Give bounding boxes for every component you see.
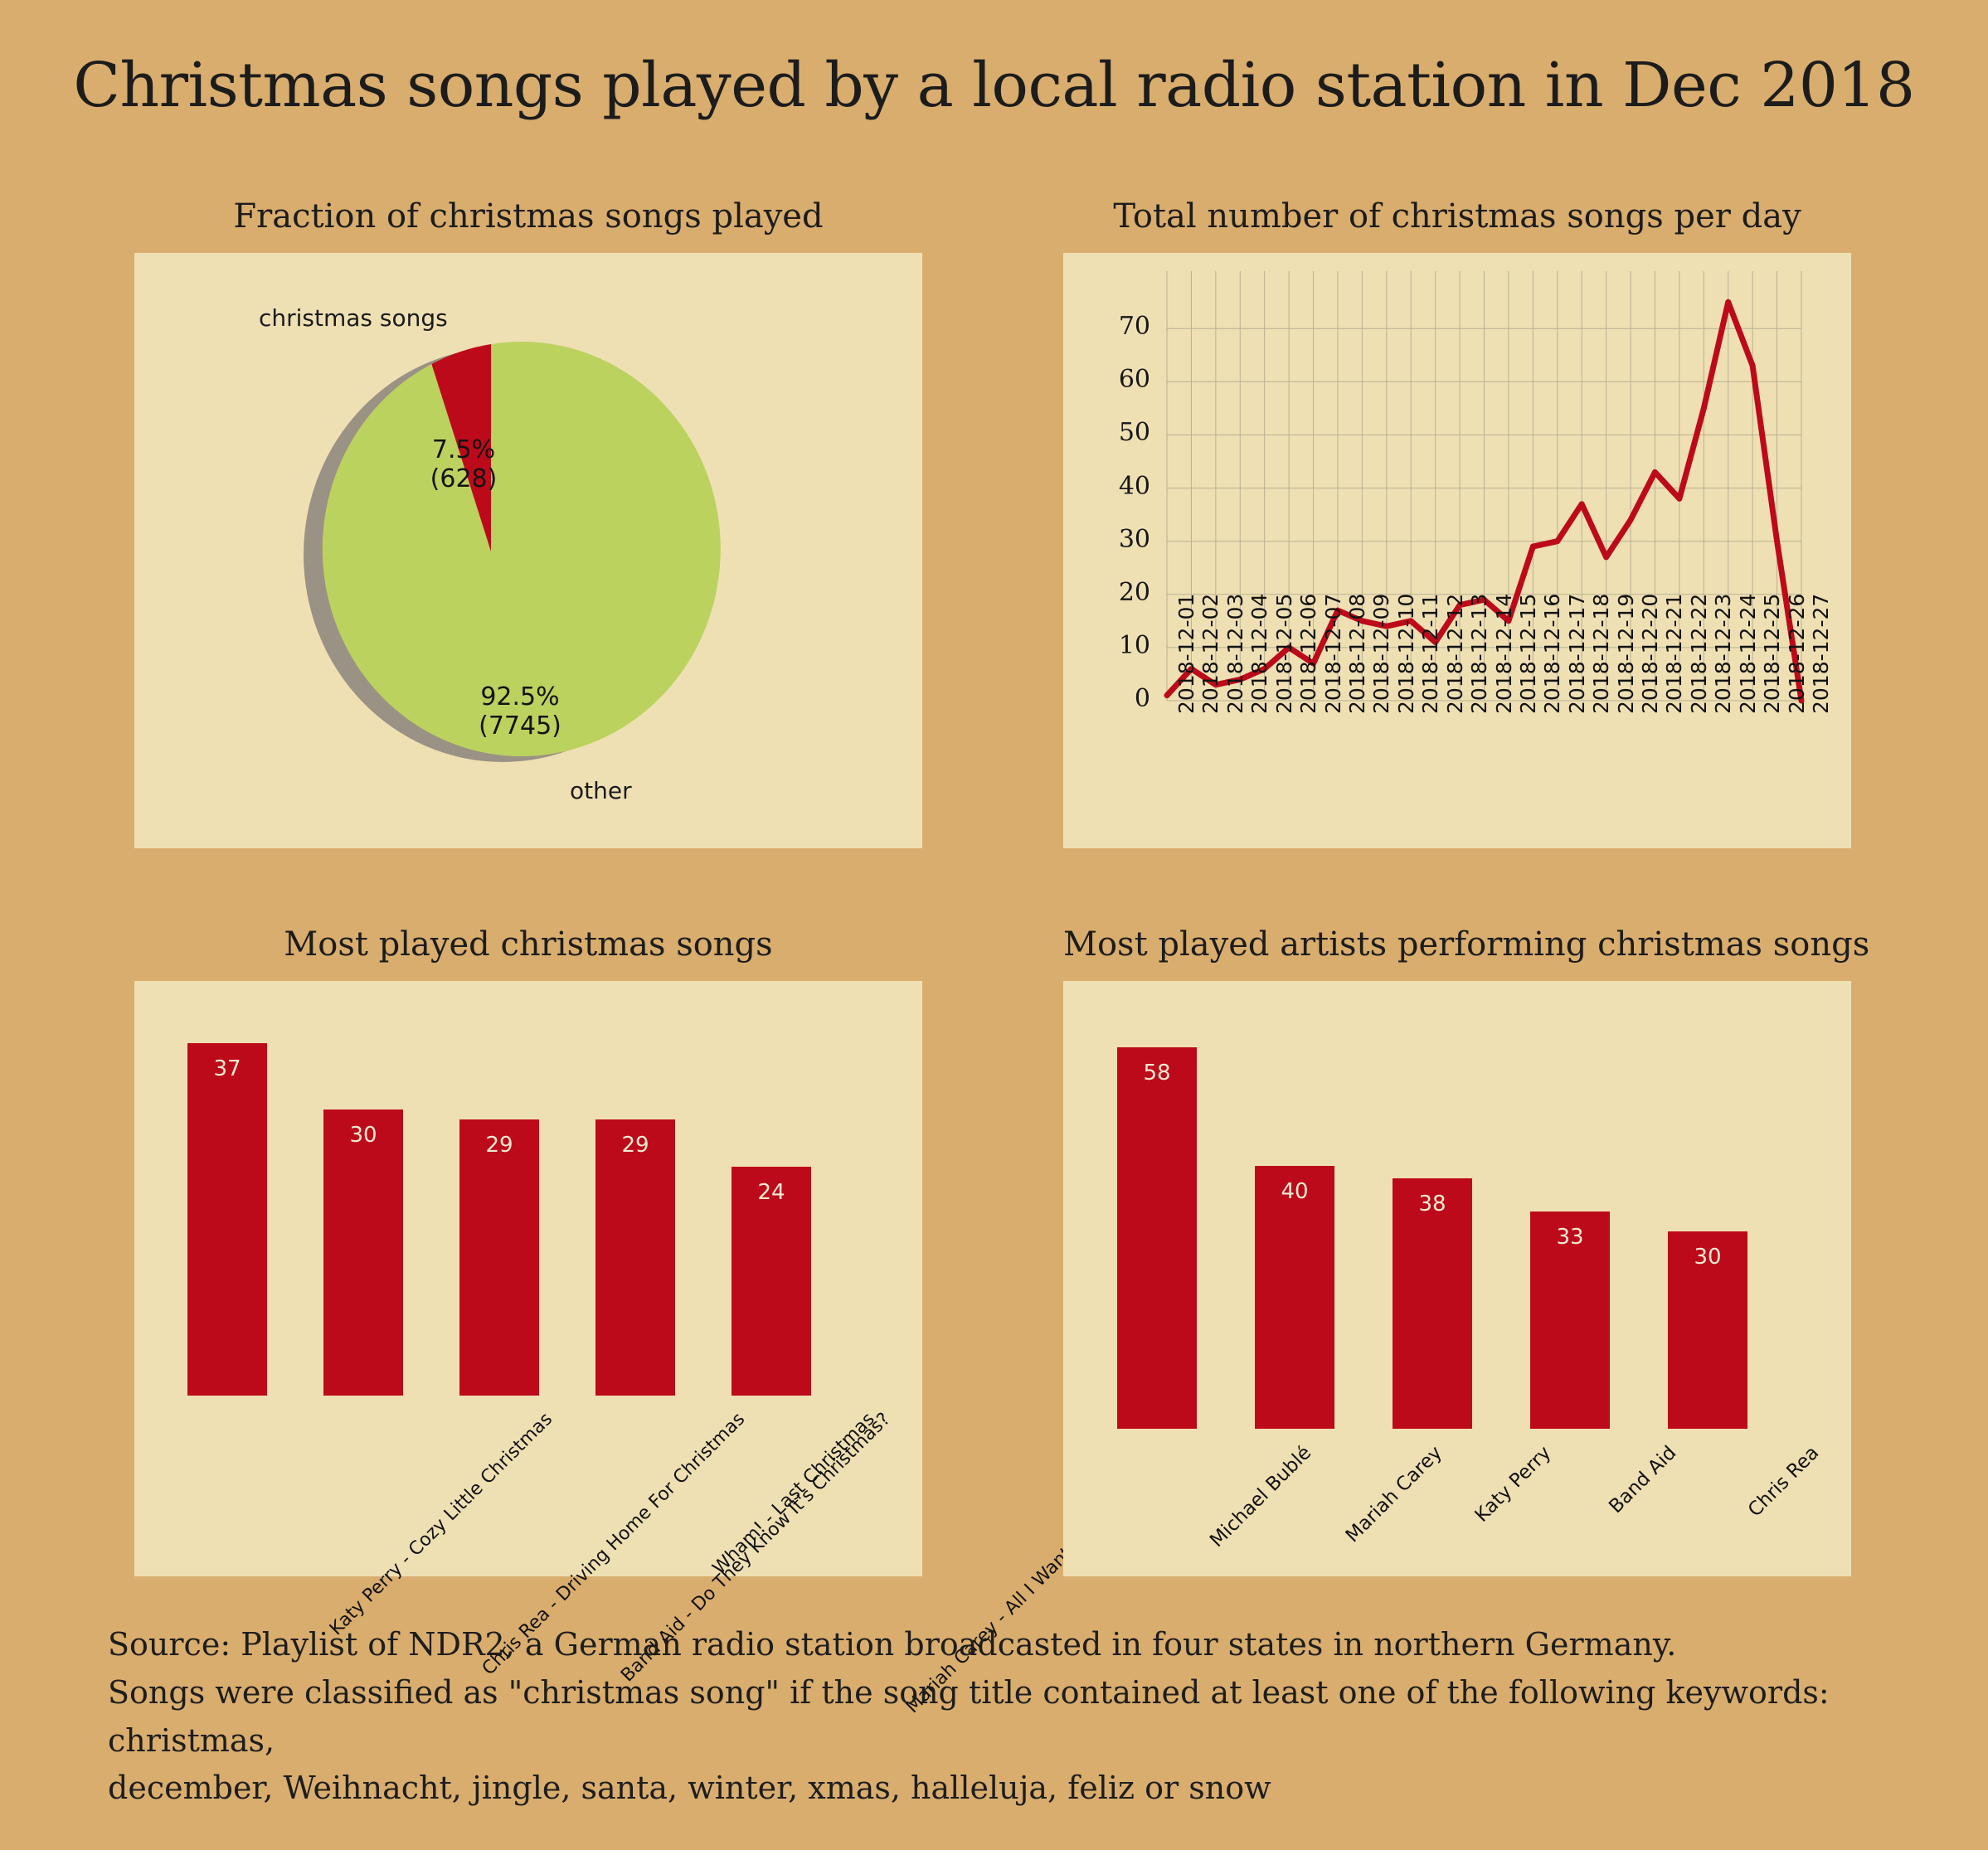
- x-tick-label: 2018-12-04: [1247, 594, 1271, 714]
- bar-value-label: 30: [323, 1123, 402, 1148]
- bar-value-label: 40: [1255, 1179, 1334, 1204]
- bar-value-label: 37: [187, 1056, 266, 1081]
- y-tick-label: 70: [1092, 312, 1150, 341]
- pie-value-other-pct: 92.5%: [454, 682, 586, 711]
- source-note: Source: Playlist of NDR2, a German radio…: [108, 1621, 1932, 1813]
- bar-value-label: 38: [1393, 1192, 1472, 1216]
- pie-chart: christmas songs 7.5% (628) 92.5% (7745) …: [292, 336, 773, 800]
- category-label: Mariah Carey: [1341, 1442, 1446, 1547]
- x-tick-label: 2018-12-17: [1565, 594, 1589, 714]
- bar-value-label: 30: [1668, 1245, 1747, 1270]
- source-note-line-2: Songs were classified as "christmas song…: [108, 1669, 1932, 1765]
- x-tick-label: 2018-12-22: [1687, 594, 1711, 714]
- x-tick-label: 2018-12-21: [1662, 594, 1686, 714]
- y-tick-label: 10: [1092, 631, 1150, 660]
- bar[interactable]: [595, 1119, 674, 1396]
- line-chart-panel: 010203040506070 2018-12-012018-12-022018…: [1063, 253, 1851, 848]
- x-tick-label: 2018-12-24: [1736, 594, 1760, 714]
- x-tick-label: 2018-12-10: [1394, 594, 1418, 714]
- pie-value-other-count: (7745): [454, 711, 586, 740]
- bar[interactable]: [1117, 1047, 1197, 1429]
- x-tick-label: 2018-12-13: [1467, 594, 1491, 714]
- x-tick-label: 2018-12-06: [1296, 594, 1320, 714]
- page-title: Christmas songs played by a local radio …: [0, 50, 1988, 121]
- x-tick-label: 2018-12-26: [1785, 594, 1809, 714]
- pie-chart-panel: christmas songs 7.5% (628) 92.5% (7745) …: [134, 253, 922, 848]
- pie-value-christmas-pct: 7.5%: [410, 435, 518, 464]
- line-chart-svg: [1063, 253, 1851, 848]
- x-tick-label: 2018-12-11: [1418, 594, 1442, 714]
- pie-value-other: 92.5% (7745): [454, 682, 586, 741]
- category-label: Band Aid: [1605, 1442, 1680, 1517]
- bar-value-label: 29: [595, 1133, 674, 1158]
- y-tick-label: 0: [1092, 684, 1150, 713]
- x-tick-label: 2018-12-09: [1369, 594, 1393, 714]
- line-chart-title: Total number of christmas songs per day: [1063, 197, 1851, 235]
- artists-bar-chart-panel: 58Michael Bublé40Mariah Carey38Katy Perr…: [1063, 981, 1851, 1576]
- bar[interactable]: [187, 1043, 266, 1396]
- x-tick-label: 2018-12-02: [1198, 594, 1222, 714]
- bar-value-label: 33: [1530, 1225, 1610, 1250]
- songs-chart-title: Most played christmas songs: [134, 925, 922, 964]
- pie-chart-title: Fraction of christmas songs played: [134, 197, 922, 235]
- bar-value-label: 58: [1117, 1061, 1197, 1085]
- pie-label-christmas: christmas songs: [259, 304, 448, 332]
- bar[interactable]: [459, 1119, 538, 1396]
- bar[interactable]: [1255, 1166, 1334, 1429]
- x-tick-label: 2018-12-25: [1760, 594, 1784, 714]
- x-tick-label: 2018-12-03: [1223, 594, 1247, 714]
- pie-label-other: other: [570, 777, 632, 804]
- x-tick-label: 2018-12-16: [1540, 594, 1564, 714]
- artists-chart-title: Most played artists performing christmas…: [1063, 925, 1851, 964]
- x-tick-label: 2018-12-14: [1492, 594, 1516, 714]
- y-tick-label: 40: [1092, 472, 1150, 501]
- x-tick-label: 2018-12-19: [1614, 594, 1638, 714]
- bar-value-label: 29: [459, 1133, 538, 1158]
- x-tick-label: 2018-12-07: [1321, 594, 1345, 714]
- x-tick-label: 2018-12-15: [1516, 594, 1540, 714]
- pie-value-christmas: 7.5% (628): [410, 435, 518, 494]
- y-tick-label: 20: [1092, 578, 1150, 607]
- source-note-line-1: Source: Playlist of NDR2, a German radio…: [108, 1621, 1932, 1669]
- bar[interactable]: [323, 1110, 402, 1396]
- songs-bar-chart-panel: 37Katy Perry - Cozy Little Christmas30Ch…: [134, 981, 922, 1576]
- y-tick-label: 50: [1092, 418, 1150, 447]
- category-label: Chris Rea: [1743, 1442, 1822, 1521]
- pie-value-christmas-count: (628): [410, 464, 518, 493]
- bar-value-label: 24: [732, 1180, 810, 1205]
- y-tick-label: 30: [1092, 525, 1150, 554]
- x-tick-label: 2018-12-27: [1809, 594, 1833, 714]
- x-tick-label: 2018-12-18: [1589, 594, 1613, 714]
- x-tick-label: 2018-12-01: [1174, 594, 1198, 714]
- category-label: Katy Perry - Cozy Little Christmas: [326, 1409, 557, 1639]
- x-tick-label: 2018-12-23: [1711, 594, 1735, 714]
- x-tick-label: 2018-12-05: [1272, 594, 1296, 714]
- category-label: Michael Bublé: [1206, 1442, 1315, 1551]
- x-tick-label: 2018-12-20: [1638, 594, 1662, 714]
- x-tick-label: 2018-12-08: [1345, 594, 1369, 714]
- category-label: Katy Perry: [1470, 1442, 1555, 1527]
- source-note-line-3: december, Weihnacht, jingle, santa, wint…: [108, 1765, 1932, 1813]
- x-tick-label: 2018-12-12: [1443, 594, 1467, 714]
- y-tick-label: 60: [1092, 365, 1150, 394]
